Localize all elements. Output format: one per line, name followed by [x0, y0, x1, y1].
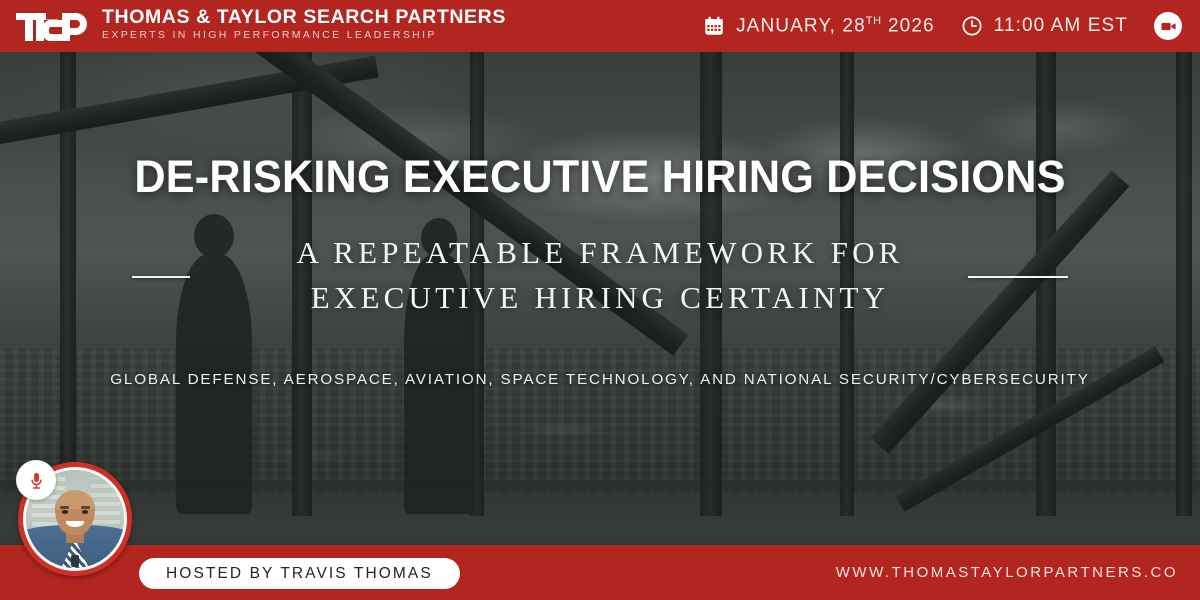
avatar-eye-right — [82, 510, 88, 513]
header-bar: THOMAS & TAYLOR SEARCH PARTNERS EXPERTS … — [0, 0, 1200, 52]
webinar-banner: THOMAS & TAYLOR SEARCH PARTNERS EXPERTS … — [0, 0, 1200, 600]
microphone-icon — [16, 460, 56, 500]
divider-right — [968, 276, 1068, 278]
clock-icon — [961, 15, 983, 37]
event-date: JANUARY, 28TH 2026 — [703, 15, 935, 37]
brand-tagline: EXPERTS IN HIGH PERFORMANCE LEADERSHIP — [102, 28, 506, 44]
brand-name: THOMAS & TAYLOR SEARCH PARTNERS — [102, 8, 506, 28]
event-time: 11:00 AM EST — [961, 15, 1128, 37]
event-date-year: 2026 — [882, 15, 935, 36]
ttsp-monogram-icon — [16, 9, 88, 43]
footer-bar: HOSTED BY TRAVIS THOMAS WWW.THOMASTAYLOR… — [0, 545, 1200, 600]
subtitle-line-2: EXECUTIVE HIRING CERTAINTY — [311, 276, 889, 321]
industries-line: GLOBAL DEFENSE, AEROSPACE, AVIATION, SPA… — [110, 371, 1090, 388]
brand-text: THOMAS & TAYLOR SEARCH PARTNERS EXPERTS … — [102, 8, 506, 44]
host-label: HOSTED BY TRAVIS THOMAS — [166, 565, 433, 583]
subtitle-block: A REPEATABLE FRAMEWORK FOR EXECUTIVE HIR… — [0, 231, 1200, 321]
page-title: DE-RISKING EXECUTIVE HIRING DECISIONS — [134, 154, 1065, 199]
video-camera-icon[interactable] — [1154, 12, 1182, 40]
host-badge: HOSTED BY TRAVIS THOMAS — [139, 558, 460, 589]
event-time-text: 11:00 AM EST — [994, 15, 1128, 37]
divider-left — [132, 276, 190, 278]
event-date-text: JANUARY, 28TH 2026 — [736, 15, 935, 37]
subtitle-line-1: A REPEATABLE FRAMEWORK FOR — [296, 231, 903, 276]
website-url[interactable]: WWW.THOMASTAYLORPARTNERS.CO — [836, 545, 1178, 600]
speaker-avatar — [18, 462, 132, 576]
avatar-brow-right — [81, 506, 90, 509]
header-meta: JANUARY, 28TH 2026 11:00 AM EST — [703, 12, 1200, 40]
event-date-month-day: JANUARY, 28 — [736, 15, 866, 36]
main-content: DE-RISKING EXECUTIVE HIRING DECISIONS A … — [0, 52, 1200, 545]
avatar-brow-left — [60, 506, 69, 509]
avatar-eye-left — [62, 510, 68, 513]
calendar-icon — [703, 15, 725, 37]
event-date-ordinal: TH — [866, 15, 882, 27]
avatar-lanyard — [71, 555, 79, 567]
brand-logo[interactable]: THOMAS & TAYLOR SEARCH PARTNERS EXPERTS … — [0, 8, 506, 44]
